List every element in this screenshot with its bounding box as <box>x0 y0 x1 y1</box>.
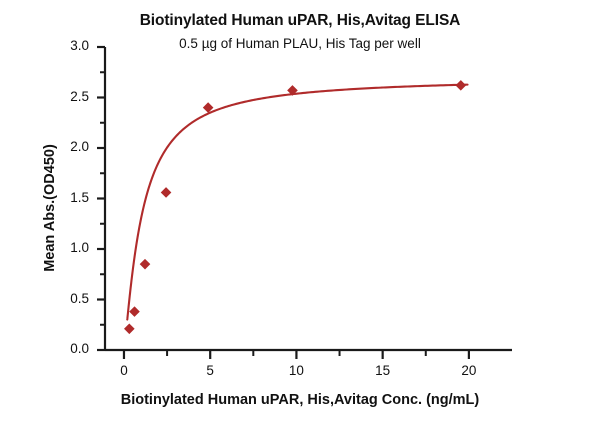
chart-canvas <box>0 0 600 421</box>
data-point-marker <box>204 103 213 112</box>
x-tick-label: 20 <box>449 363 489 378</box>
y-tick-label: 2.5 <box>49 89 89 104</box>
x-tick-label: 0 <box>104 363 144 378</box>
data-point-marker <box>125 324 134 333</box>
data-point-marker <box>456 81 465 90</box>
y-tick-label: 2.0 <box>49 139 89 154</box>
data-point-marker <box>130 307 139 316</box>
data-point-marker <box>161 188 170 197</box>
data-series <box>125 81 468 334</box>
plot-area: Mean Abs.(OD450) Biotinylated Human uPAR… <box>0 0 600 421</box>
data-point-marker <box>140 260 149 269</box>
x-tick-label: 5 <box>190 363 230 378</box>
elisa-chart: Biotinylated Human uPAR, His,Avitag ELIS… <box>0 0 600 421</box>
y-tick-label: 1.0 <box>49 240 89 255</box>
x-tick-label: 10 <box>276 363 316 378</box>
x-tick-label: 15 <box>363 363 403 378</box>
y-tick-label: 1.5 <box>49 190 89 205</box>
fit-curve <box>127 85 467 320</box>
y-tick-label: 0.5 <box>49 291 89 306</box>
y-tick-label: 0.0 <box>49 341 89 356</box>
y-tick-label: 3.0 <box>49 38 89 53</box>
